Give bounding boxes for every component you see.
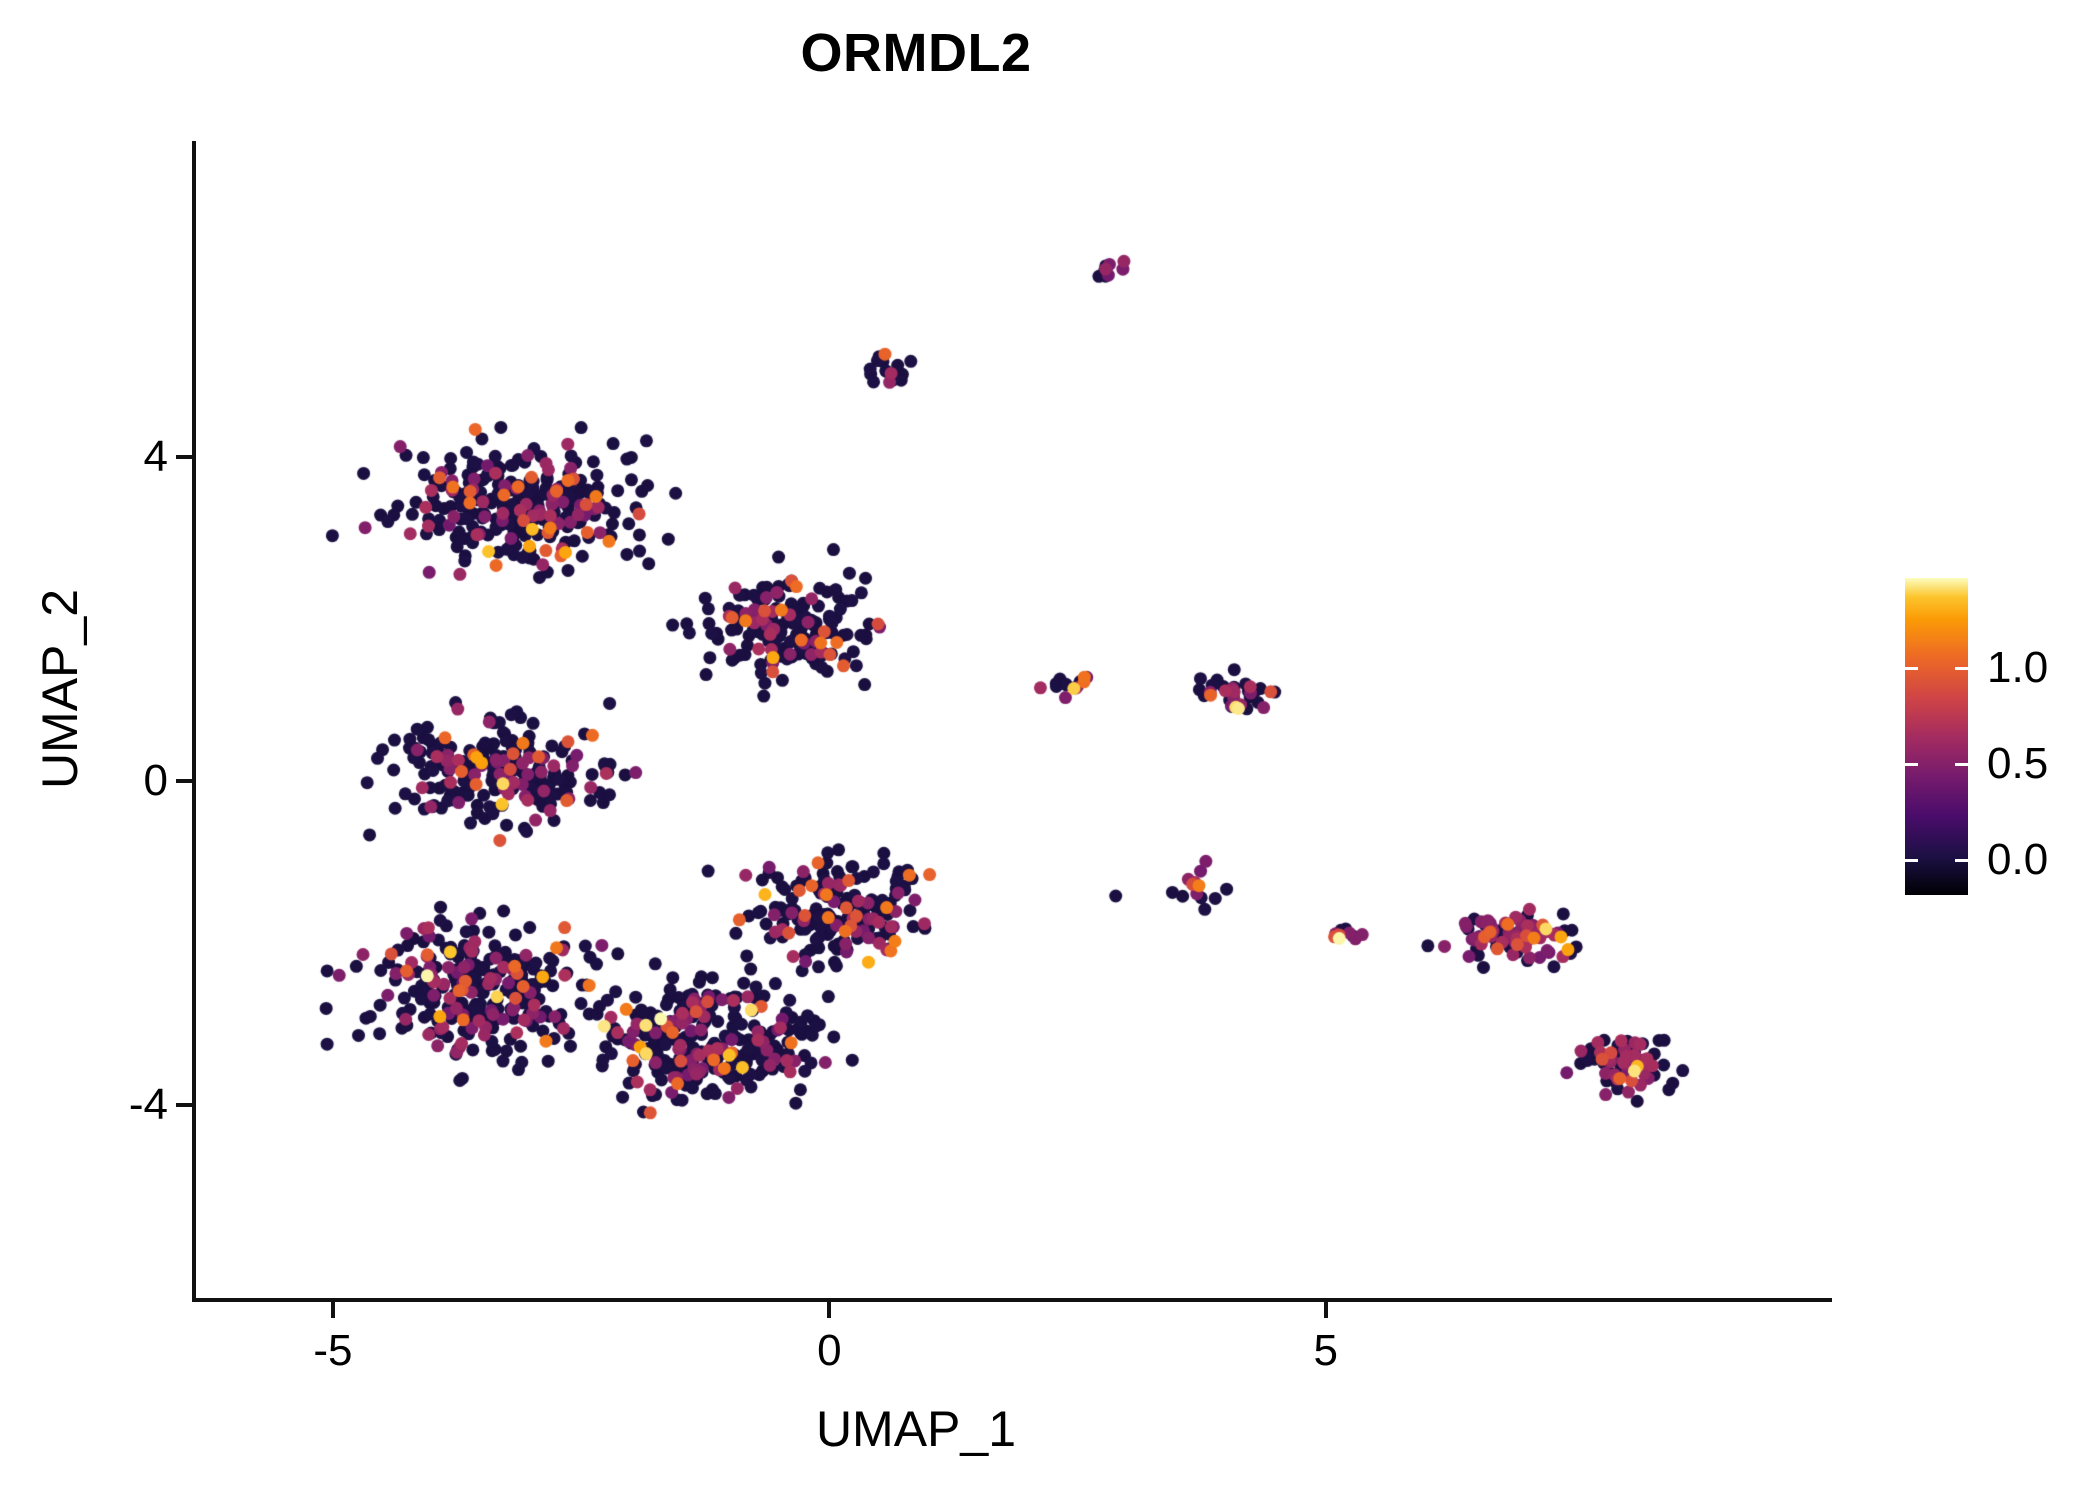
colorbar-tick-mark <box>1905 763 1918 766</box>
colorbar-tick-mark <box>1955 859 1968 862</box>
y-tick-mark <box>176 455 192 459</box>
plot-panel <box>194 141 1832 1300</box>
y-tick-label: 0 <box>144 756 168 806</box>
y-tick-label: 4 <box>144 432 168 482</box>
x-tick-label: 5 <box>1313 1326 1337 1376</box>
colorbar-tick-label: 0.5 <box>1987 739 2048 789</box>
colorbar-tick-mark <box>1955 667 1968 670</box>
colorbar-tick-mark <box>1905 859 1918 862</box>
y-axis-title: UMAP_2 <box>31 389 89 989</box>
y-axis-line <box>192 141 196 1302</box>
colorbar-tick-label: 1.0 <box>1987 643 2048 693</box>
colorbar-legend: 0.00.51.0 <box>1905 578 2075 918</box>
x-axis-title: UMAP_1 <box>0 1400 1832 1458</box>
scatter-plot-area <box>194 141 1832 1300</box>
colorbar-gradient <box>1905 578 1968 895</box>
y-tick-label: -4 <box>129 1080 168 1130</box>
x-axis-line <box>192 1298 1832 1302</box>
x-tick-label: -5 <box>313 1326 352 1376</box>
x-tick-mark <box>331 1302 335 1318</box>
y-tick-mark <box>176 1103 192 1107</box>
colorbar-tick-mark <box>1905 667 1918 670</box>
x-tick-mark <box>827 1302 831 1318</box>
umap-feature-plot: ORMDL2 -404 -505 UMAP_1 UMAP_2 0.00.51.0 <box>0 0 2100 1500</box>
x-tick-mark <box>1324 1302 1328 1318</box>
y-tick-mark <box>176 779 192 783</box>
x-tick-label: 0 <box>817 1326 841 1376</box>
colorbar-tick-mark <box>1955 763 1968 766</box>
colorbar-tick-label: 0.0 <box>1987 835 2048 885</box>
page-title: ORMDL2 <box>0 22 1832 84</box>
